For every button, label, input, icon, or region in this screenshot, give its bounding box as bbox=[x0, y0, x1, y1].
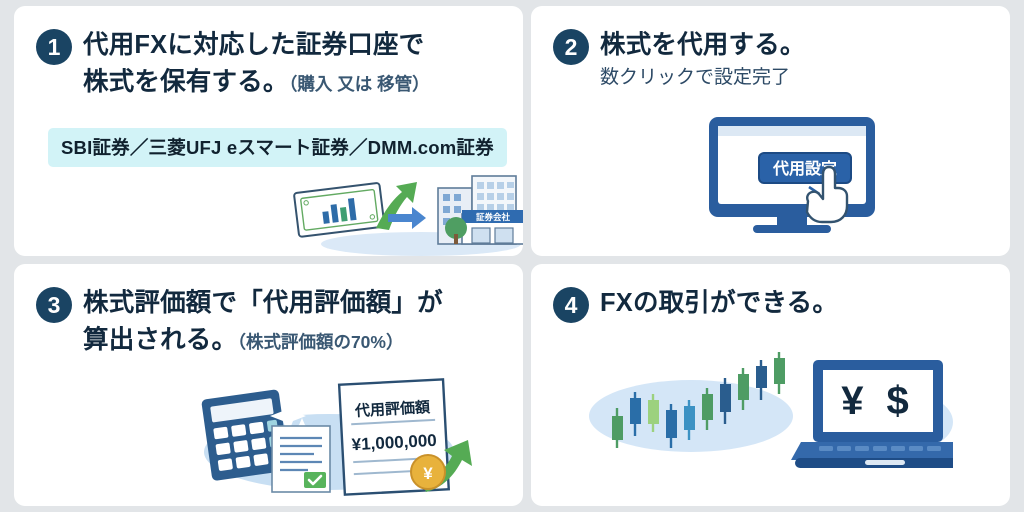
step-3-heading: 3 株式評価額で「代用評価額」が 算出される。（株式評価額の70%） bbox=[36, 286, 511, 359]
step-1-heading-line2: 株式を保有する。 bbox=[83, 68, 289, 96]
step-number-badge-3: 3 bbox=[36, 287, 72, 323]
step-card-2: 2 株式を代用する。 数クリックで設定完了 代用設定 bbox=[531, 6, 1010, 256]
yen-coin-symbol: ¥ bbox=[423, 464, 433, 483]
step-1-heading-note: （購入 又は 移管） bbox=[289, 74, 430, 94]
step-card-4: 4 FXの取引ができる。 bbox=[531, 264, 1010, 506]
step-2-subtitle: 数クリックで設定完了 bbox=[600, 64, 998, 91]
illustration-monitor-with-button: 代用設定 bbox=[691, 111, 901, 241]
brokerage-building-sign: 証券会社 bbox=[476, 212, 511, 222]
step-number-badge-2: 2 bbox=[553, 29, 589, 65]
step-1-heading: 1 代用FXに対応した証券口座で 株式を保有する。（購入 又は 移管） bbox=[36, 28, 511, 101]
step-number-badge-4: 4 bbox=[553, 287, 589, 323]
step-1-heading-line1: 代用FXに対応した証券口座で bbox=[83, 28, 511, 62]
step-4-heading: 4 FXの取引ができる。 bbox=[553, 286, 998, 323]
step-3-heading-note: （株式評価額の70%） bbox=[237, 332, 403, 352]
step-number-badge-1: 1 bbox=[36, 29, 72, 65]
step-4-heading-line1: FXの取引ができる。 bbox=[600, 286, 998, 320]
step-3-heading-line1: 株式評価額で「代用評価額」が bbox=[83, 286, 511, 320]
step-2-heading: 2 株式を代用する。 数クリックで設定完了 bbox=[553, 28, 998, 91]
brokerage-list-badge: SBI証券／三菱UFJ eスマート証券／DMM.com証券 bbox=[48, 128, 507, 167]
step-card-3: 3 株式評価額で「代用評価額」が 算出される。（株式評価額の70%） bbox=[14, 264, 523, 506]
step-3-heading-line2: 算出される。 bbox=[83, 326, 237, 354]
steps-grid: 1 代用FXに対応した証券口座で 株式を保有する。（購入 又は 移管） SBI証… bbox=[14, 6, 1010, 506]
laptop-currency-symbols: ¥ $ bbox=[841, 379, 915, 423]
illustration-stock-certificate-to-brokerage: 証券会社 bbox=[276, 166, 523, 256]
illustration-candlesticks-and-laptop: ¥ $ bbox=[573, 344, 953, 494]
illustration-valuation: 代用評価額 ¥1,000,000 ¥ bbox=[184, 360, 484, 500]
step-card-1: 1 代用FXに対応した証券口座で 株式を保有する。（購入 又は 移管） SBI証… bbox=[14, 6, 523, 256]
step-2-heading-line1: 株式を代用する。 bbox=[600, 28, 998, 62]
